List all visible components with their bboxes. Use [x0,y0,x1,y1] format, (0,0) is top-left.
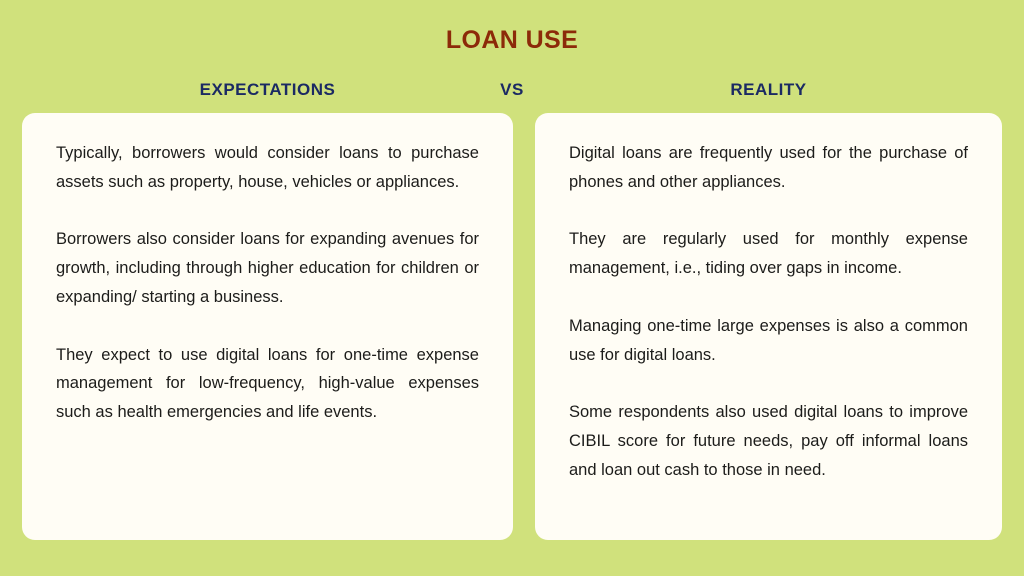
column-header-reality: REALITY [535,80,1002,100]
page-title: LOAN USE [0,26,1024,55]
reality-card: Digital loans are frequently used for th… [535,113,1002,540]
expectations-paragraph: Typically, borrowers would consider loan… [56,139,479,197]
reality-paragraph: Digital loans are frequently used for th… [569,139,968,197]
reality-paragraph: They are regularly used for monthly expe… [569,225,968,283]
column-headers: EXPECTATIONS VS REALITY [0,80,1024,106]
slide-root: LOAN USE EXPECTATIONS VS REALITY Typical… [0,0,1024,576]
column-header-expectations: EXPECTATIONS [22,80,513,100]
reality-paragraph: Some respondents also used digital loans… [569,398,968,484]
expectations-card: Typically, borrowers would consider loan… [22,113,513,540]
reality-paragraph: Managing one-time large expenses is also… [569,312,968,370]
column-header-vs: VS [481,80,543,100]
expectations-paragraph: They expect to use digital loans for one… [56,341,479,427]
expectations-paragraph: Borrowers also consider loans for expand… [56,225,479,311]
